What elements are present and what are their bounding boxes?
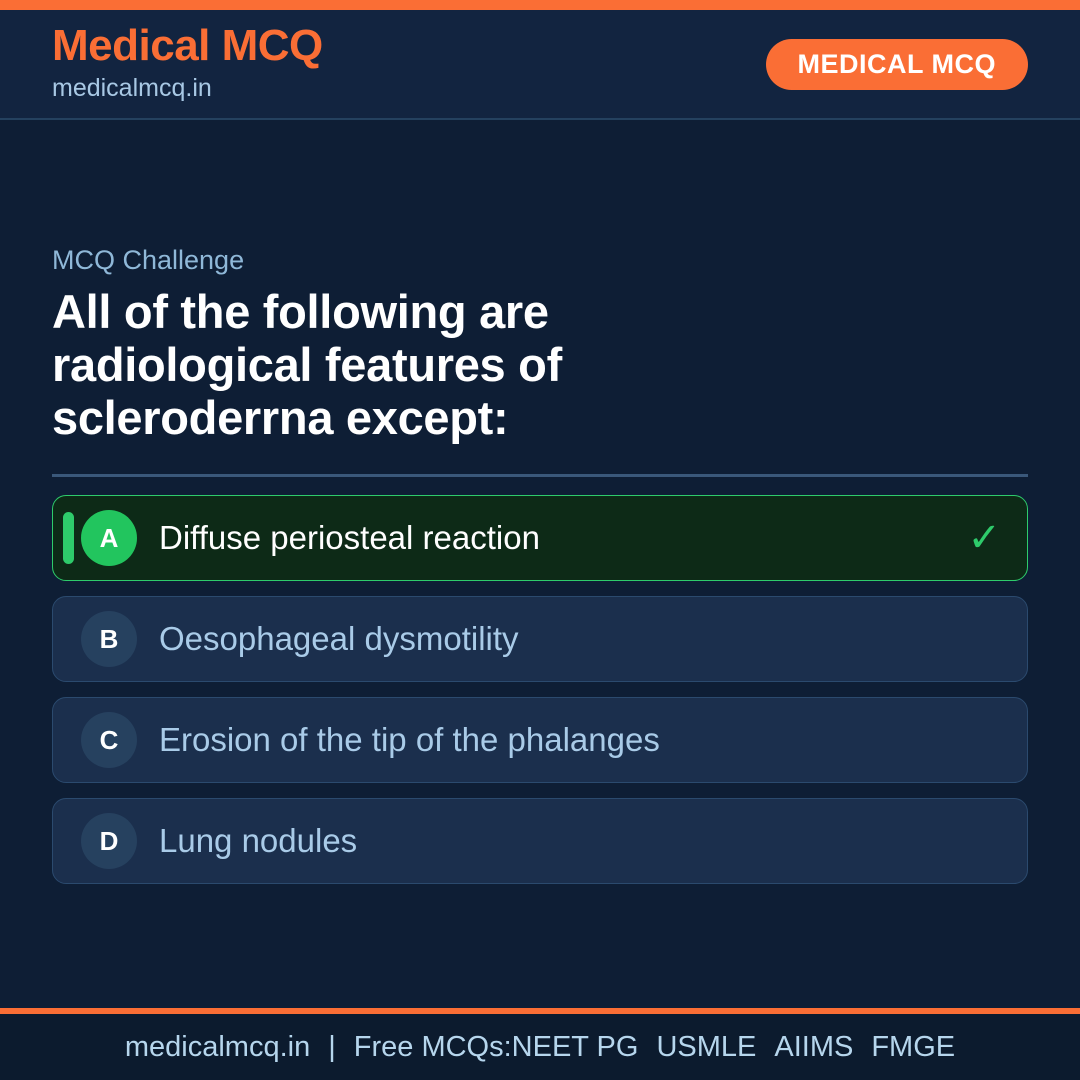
option-row-d[interactable]: D Lung nodules ✓	[52, 798, 1028, 884]
footer-exam-fmge: FMGE	[871, 1033, 955, 1062]
option-label-b: Oesophageal dysmotility	[159, 619, 951, 659]
correct-accent-bar	[63, 512, 74, 564]
option-letter-badge-b: B	[81, 611, 137, 667]
option-row-a[interactable]: A Diffuse periosteal reaction ✓	[52, 495, 1028, 581]
footer-separator: |	[310, 1033, 354, 1062]
brand-badge-pill[interactable]: MEDICAL MCQ	[766, 39, 1029, 90]
footer-bar: medicalmcq.in | Free MCQs: NEET PG USMLE…	[0, 1014, 1080, 1080]
footer-exam-list: NEET PG USMLE AIIMS FMGE	[512, 1033, 955, 1062]
mcq-card: Medical MCQ medicalmcq.in MEDICAL MCQ MC…	[0, 0, 1080, 1080]
footer-exam-neetpg: NEET PG	[512, 1033, 639, 1062]
option-row-c[interactable]: C Erosion of the tip of the phalanges ✓	[52, 697, 1028, 783]
footer-prefix: Free MCQs:	[354, 1033, 512, 1062]
check-icon: ✓	[967, 518, 1001, 558]
option-label-a: Diffuse periosteal reaction	[159, 518, 951, 558]
brand-block: Medical MCQ medicalmcq.in	[52, 23, 323, 105]
options-list: A Diffuse periosteal reaction ✓ B Oesoph…	[52, 495, 1028, 884]
main-content: MCQ Challenge All of the following are r…	[0, 120, 1080, 1008]
top-accent-bar	[0, 0, 1080, 10]
footer-site[interactable]: medicalmcq.in	[125, 1033, 310, 1062]
question-text: All of the following are radiological fe…	[52, 286, 752, 444]
brand-title: Medical MCQ	[52, 23, 323, 69]
option-label-c: Erosion of the tip of the phalanges	[159, 720, 951, 760]
section-divider	[52, 474, 1028, 477]
option-letter-badge-d: D	[81, 813, 137, 869]
footer-exam-usmle: USMLE	[656, 1033, 756, 1062]
kicker-label: MCQ Challenge	[52, 244, 1028, 276]
option-letter-badge-a: A	[81, 510, 137, 566]
brand-url: medicalmcq.in	[52, 72, 323, 105]
option-letter-badge-c: C	[81, 712, 137, 768]
footer-exam-aiims: AIIMS	[774, 1033, 853, 1062]
option-label-d: Lung nodules	[159, 821, 951, 861]
option-row-b[interactable]: B Oesophageal dysmotility ✓	[52, 596, 1028, 682]
header-bar: Medical MCQ medicalmcq.in MEDICAL MCQ	[0, 10, 1080, 120]
